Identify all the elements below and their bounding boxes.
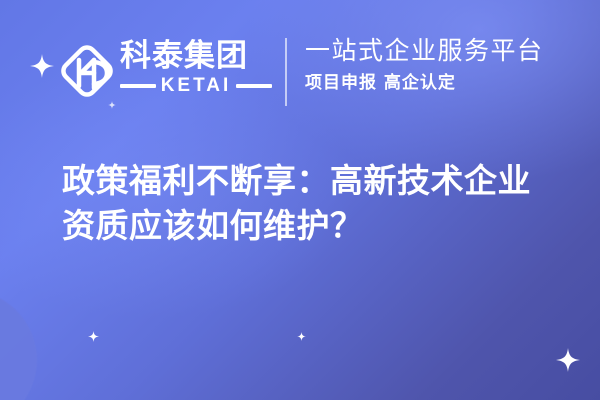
slogan-sub: 项目申报 高企认定 <box>305 70 544 96</box>
header-divider <box>285 38 287 106</box>
banner-header: 科泰集团 KETAI 一站式企业服务平台 项目申报 高企认定 <box>0 28 600 114</box>
sparkle-bottom-center-icon <box>297 328 306 337</box>
company-name-cn: 科泰集团 <box>120 39 272 73</box>
sparkle-header-left-icon <box>30 54 54 78</box>
page-title: 政策福利不断享：高新技术企业资质应该如何维护？ <box>62 158 562 248</box>
wordmark-dash-left <box>120 84 156 88</box>
banner-canvas: 科泰集团 KETAI 一站式企业服务平台 项目申报 高企认定 政策福利不断享：高… <box>0 0 600 400</box>
header-slogan: 一站式企业服务平台 项目申报 高企认定 <box>305 34 544 96</box>
ketai-logo-icon[interactable] <box>57 40 117 102</box>
slogan-main: 一站式企业服务平台 <box>305 34 544 68</box>
company-name-en-row: KETAI <box>120 76 272 95</box>
ketai-wordmark[interactable]: 科泰集团 KETAI <box>120 39 272 95</box>
wordmark-dash-right <box>236 84 272 88</box>
circle-bottom-left-decoration <box>0 290 37 400</box>
sparkle-bottom-left-icon <box>88 329 99 340</box>
sparkle-bottom-right-icon <box>556 348 580 372</box>
company-name-en: KETAI <box>161 76 232 95</box>
